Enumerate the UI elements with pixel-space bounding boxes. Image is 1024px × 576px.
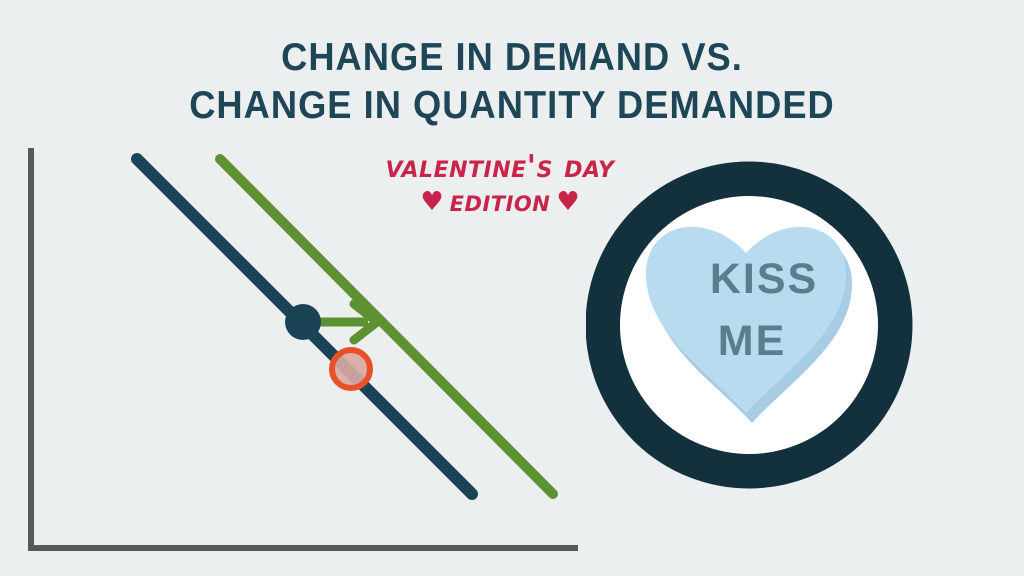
subtitle-line-1: Valentine's Day: [300, 152, 700, 184]
subtitle-edition-label: Edition: [450, 184, 551, 219]
candy-text-line-1: KISS: [710, 255, 818, 303]
slide-canvas: Change in Demand vs. Change in Quantity …: [0, 0, 1024, 576]
subtitle: Valentine's Day ♥Edition♥: [300, 152, 700, 217]
title-line-1: Change in Demand vs.: [36, 38, 988, 77]
new-quantity-point: [332, 350, 370, 388]
candy-text-line-2: ME: [718, 317, 787, 365]
original-equilibrium-point: [285, 304, 321, 340]
heart-icon-left: ♥: [420, 187, 443, 217]
subtitle-line-2: ♥Edition♥: [300, 187, 700, 218]
heart-icon-right: ♥: [556, 187, 579, 217]
